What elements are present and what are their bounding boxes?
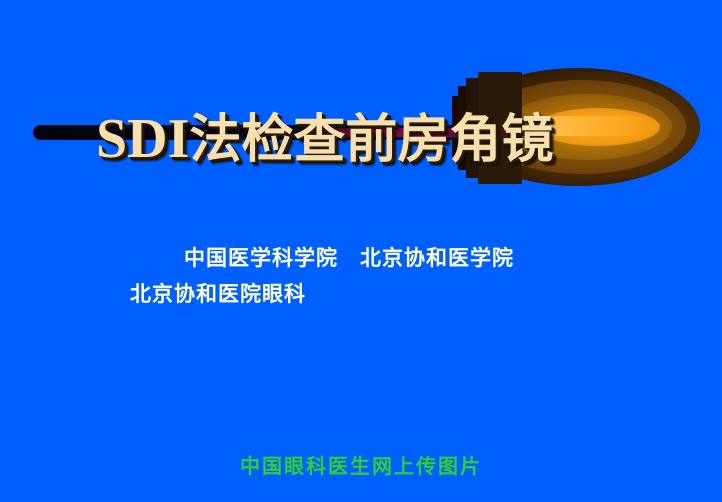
page-title-latin: SDI — [96, 108, 189, 170]
subtitle-line-1: 中国医学科学院 北京协和医学院 — [122, 240, 592, 276]
page-title-han: 法检查前房角镜 — [189, 110, 553, 170]
presentation-slide: SDI法检查前房角镜 中国医学科学院 北京协和医学院 北京协和医院眼科 中国眼科… — [0, 0, 722, 502]
subtitle-block: 中国医学科学院 北京协和医学院 北京协和医院眼科 — [122, 240, 592, 312]
footer-watermark: 中国眼科医生网上传图片 — [0, 450, 722, 479]
bullet-core-highlight — [548, 116, 644, 136]
bullet-ring-4 — [536, 108, 660, 146]
subtitle-line-2: 北京协和医院眼科 — [122, 276, 592, 312]
page-title: SDI法检查前房角镜 — [96, 103, 553, 176]
